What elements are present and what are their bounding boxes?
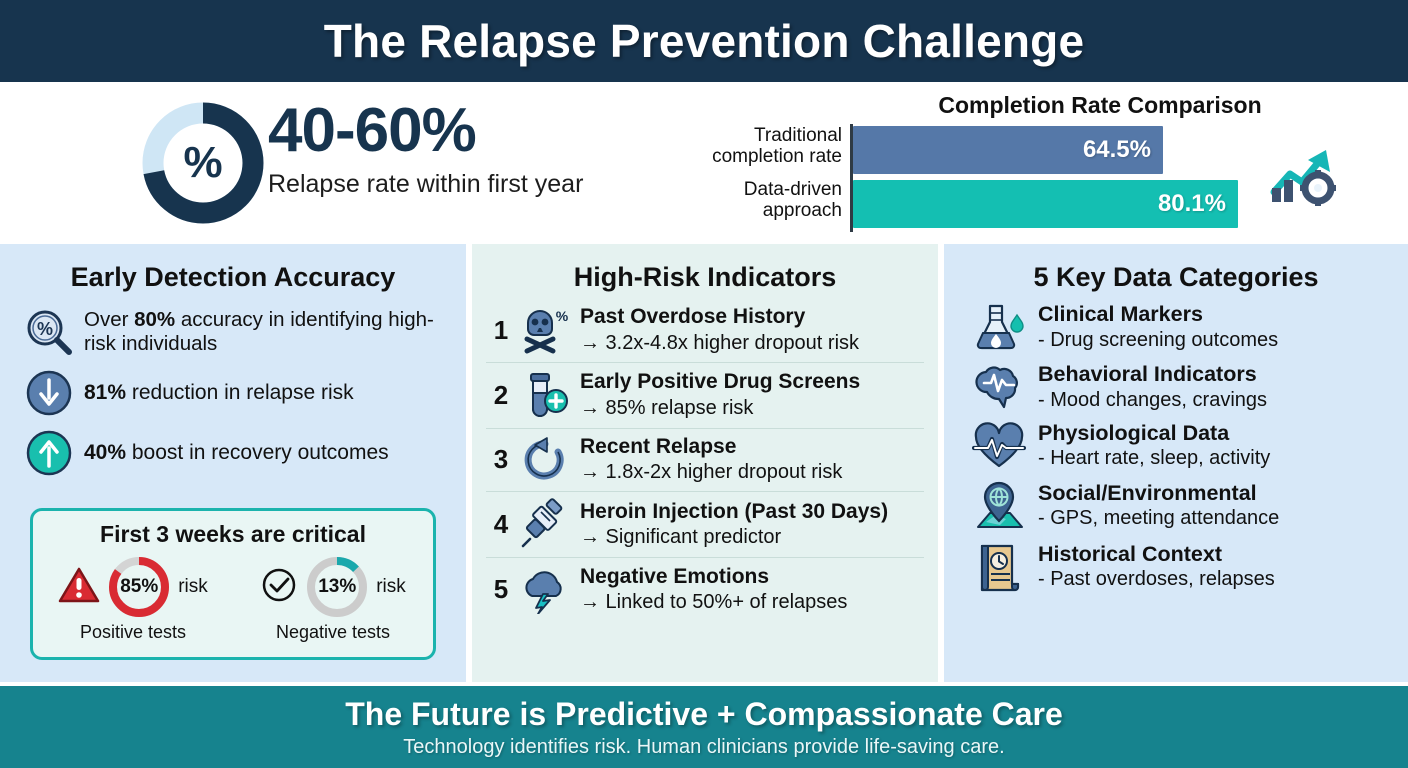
critical-window-box: First 3 weeks are critical	[30, 508, 436, 660]
category-detail-2: - Mood changes, cravings	[1038, 388, 1267, 412]
relapse-rate-caption: Relapse rate within first year	[268, 170, 583, 199]
item-number-4: 4	[486, 509, 516, 540]
early-detection-text-2: 81% reduction in relapse risk	[78, 381, 354, 406]
item-body-2: Early Positive Drug Screens → 85% relaps…	[574, 370, 860, 419]
list-item: 40% boost in recovery outcomes	[20, 429, 448, 477]
arrow-up-circle-icon	[20, 429, 78, 477]
item-number-3: 3	[486, 444, 516, 475]
list-item: Social/Environmental - GPS, meeting atte…	[968, 479, 1396, 531]
footer-subtitle: Technology identifies risk. Human clinic…	[403, 736, 1004, 759]
map-pin-globe-icon	[968, 479, 1030, 531]
category-label-4: Social/Environmental	[1038, 481, 1279, 505]
hero-stat: 40-60% Relapse rate within first year	[268, 100, 583, 199]
panel-early-detection: Early Detection Accuracy % Over 80% accu…	[0, 244, 466, 682]
list-item: Physiological Data - Heart rate, sleep, …	[968, 421, 1396, 470]
syringe-icon	[516, 498, 574, 550]
panels-region: Early Detection Accuracy % Over 80% accu…	[0, 244, 1408, 682]
text-strong: 80%	[134, 308, 175, 331]
arrow-down-circle-icon	[20, 369, 78, 417]
magnifier-percent-icon: %	[20, 307, 78, 357]
footer-title: The Future is Predictive + Compassionate…	[345, 696, 1063, 733]
category-body-5: Historical Context - Past overdoses, rel…	[1030, 542, 1275, 591]
scroll-clock-icon	[968, 540, 1030, 592]
footer-bar: The Future is Predictive + Compassionate…	[0, 686, 1408, 768]
panel-high-risk: High-Risk Indicators 1 %	[472, 244, 938, 682]
item-detail-5: → Linked to 50%+ of relapses	[580, 590, 847, 614]
item-label-1: Past Overdose History	[580, 305, 859, 329]
item-detail-2: → 85% relapse risk	[580, 396, 860, 420]
item-label-3: Recent Relapse	[580, 435, 842, 459]
critical-gauge-positive: 85% risk Positive tests	[33, 554, 233, 643]
skull-crossbones-percent-icon: %	[516, 305, 574, 355]
panel-title-early-detection: Early Detection Accuracy	[0, 244, 466, 293]
critical-gauge-negative: 13% risk Negative tests	[233, 554, 433, 643]
bar-label-traditional: Traditional completion rate	[690, 126, 842, 167]
text-prefix: Over	[84, 308, 134, 331]
relapse-donut-chart: %	[138, 98, 268, 228]
category-label-5: Historical Context	[1038, 542, 1275, 566]
gauge-value-positive: 85%	[106, 554, 172, 620]
early-detection-text-1: Over 80% accuracy in identifying high-ri…	[78, 308, 448, 356]
category-label-1: Clinical Markers	[1038, 302, 1278, 326]
critical-gauges-row: 85% risk Positive tests	[33, 554, 433, 643]
test-tube-plus-icon	[516, 369, 574, 421]
category-label-3: Physiological Data	[1038, 421, 1270, 445]
risk-label-negative: risk	[376, 576, 406, 598]
panel-title-high-risk: High-Risk Indicators	[472, 244, 938, 293]
relapse-rate-value: 40-60%	[268, 100, 583, 162]
early-detection-rows: % Over 80% accuracy in identifying high-…	[0, 293, 466, 477]
list-item: 3 Recent Relapse → 1.8x-2x higher dropou…	[486, 428, 924, 491]
storm-cloud-icon	[516, 564, 574, 614]
category-detail-1: - Drug screening outcomes	[1038, 328, 1278, 352]
item-detail-3: → 1.8x-2x higher dropout risk	[580, 460, 842, 484]
warning-triangle-icon	[58, 566, 100, 609]
flask-droplet-icon	[968, 301, 1030, 353]
page-title: The Relapse Prevention Challenge	[324, 14, 1085, 68]
item-body-5: Negative Emotions → Linked to 50%+ of re…	[574, 565, 847, 614]
category-body-3: Physiological Data - Heart rate, sleep, …	[1030, 421, 1270, 470]
percent-icon: %	[138, 98, 268, 228]
list-item: 81% reduction in relapse risk	[20, 369, 448, 417]
list-item: Clinical Markers - Drug screening outcom…	[968, 301, 1396, 353]
list-item: 4	[486, 491, 924, 557]
caption-positive: Positive tests	[33, 622, 233, 643]
list-item: 5 Negative Emotions → Linked to 50%+ of …	[486, 557, 924, 621]
text-strong: 81%	[84, 381, 126, 404]
item-detail-1: → 3.2x-4.8x higher dropout risk	[580, 331, 859, 355]
text-strong: 40%	[84, 441, 126, 464]
bar-value-data-driven: 80.1%	[1158, 190, 1238, 218]
bar-value-traditional: 64.5%	[1083, 136, 1163, 164]
category-detail-3: - Heart rate, sleep, activity	[1038, 446, 1270, 470]
list-item: 2 Early Positive Drug Screens → 85% rela…	[486, 362, 924, 428]
item-label-5: Negative Emotions	[580, 565, 847, 589]
text-suffix: reduction in relapse risk	[126, 381, 354, 404]
data-categories-list: Clinical Markers - Drug screening outcom…	[944, 293, 1408, 592]
infographic-page: The Relapse Prevention Challenge % 40-60…	[0, 0, 1408, 768]
item-detail-4: → Significant predictor	[580, 525, 888, 549]
item-number-5: 5	[486, 574, 516, 605]
bar-traditional: 64.5%	[853, 126, 1163, 174]
item-body-4: Heroin Injection (Past 30 Days) → Signif…	[574, 500, 888, 549]
list-item: % Over 80% accuracy in identifying high-…	[20, 307, 448, 357]
bar-label-data-driven: Data-driven approach	[690, 180, 842, 221]
brain-pulse-icon	[968, 362, 1030, 412]
category-detail-5: - Past overdoses, relapses	[1038, 567, 1275, 591]
check-circle-icon	[260, 566, 298, 609]
gauge-positive: 85%	[106, 554, 172, 620]
risk-label-positive: risk	[178, 576, 208, 598]
category-body-1: Clinical Markers - Drug screening outcom…	[1030, 302, 1278, 351]
category-body-4: Social/Environmental - GPS, meeting atte…	[1030, 481, 1279, 530]
panel-title-data-categories: 5 Key Data Categories	[944, 244, 1408, 293]
text-suffix: boost in recovery outcomes	[126, 441, 389, 464]
item-label-4: Heroin Injection (Past 30 Days)	[580, 500, 888, 524]
panel-data-categories: 5 Key Data Categories	[944, 244, 1408, 682]
category-label-2: Behavioral Indicators	[1038, 362, 1267, 386]
gauge-value-negative: 13%	[304, 554, 370, 620]
item-body-3: Recent Relapse → 1.8x-2x higher dropout …	[574, 435, 842, 484]
caption-negative: Negative tests	[233, 622, 433, 643]
list-item: Behavioral Indicators - Mood changes, cr…	[968, 362, 1396, 412]
list-item: 1 % Past Overdose Histo	[486, 299, 924, 362]
svg-text:%: %	[37, 319, 53, 339]
item-body-1: Past Overdose History → 3.2x-4.8x higher…	[574, 305, 859, 354]
item-label-2: Early Positive Drug Screens	[580, 370, 860, 394]
completion-rate-chart: Completion Rate Comparison Traditional c…	[690, 92, 1350, 232]
hero-band: % 40-60% Relapse rate within first year …	[0, 82, 1408, 244]
gauge-negative: 13%	[304, 554, 370, 620]
item-number-2: 2	[486, 380, 516, 411]
svg-text:%: %	[556, 308, 569, 324]
circular-arrow-icon	[516, 436, 574, 484]
item-number-1: 1	[486, 315, 516, 346]
growth-chart-gear-icon	[1268, 144, 1340, 211]
critical-window-title: First 3 weeks are critical	[33, 511, 433, 548]
high-risk-list: 1 % Past Overdose Histo	[472, 293, 938, 621]
category-detail-4: - GPS, meeting attendance	[1038, 506, 1279, 530]
bar-data-driven: 80.1%	[853, 180, 1238, 228]
list-item: Historical Context - Past overdoses, rel…	[968, 540, 1396, 592]
chart-title: Completion Rate Comparison	[850, 92, 1350, 119]
header-bar: The Relapse Prevention Challenge	[0, 0, 1408, 82]
early-detection-text-3: 40% boost in recovery outcomes	[78, 441, 389, 466]
category-body-2: Behavioral Indicators - Mood changes, cr…	[1030, 362, 1267, 411]
heart-pulse-icon	[968, 422, 1030, 470]
